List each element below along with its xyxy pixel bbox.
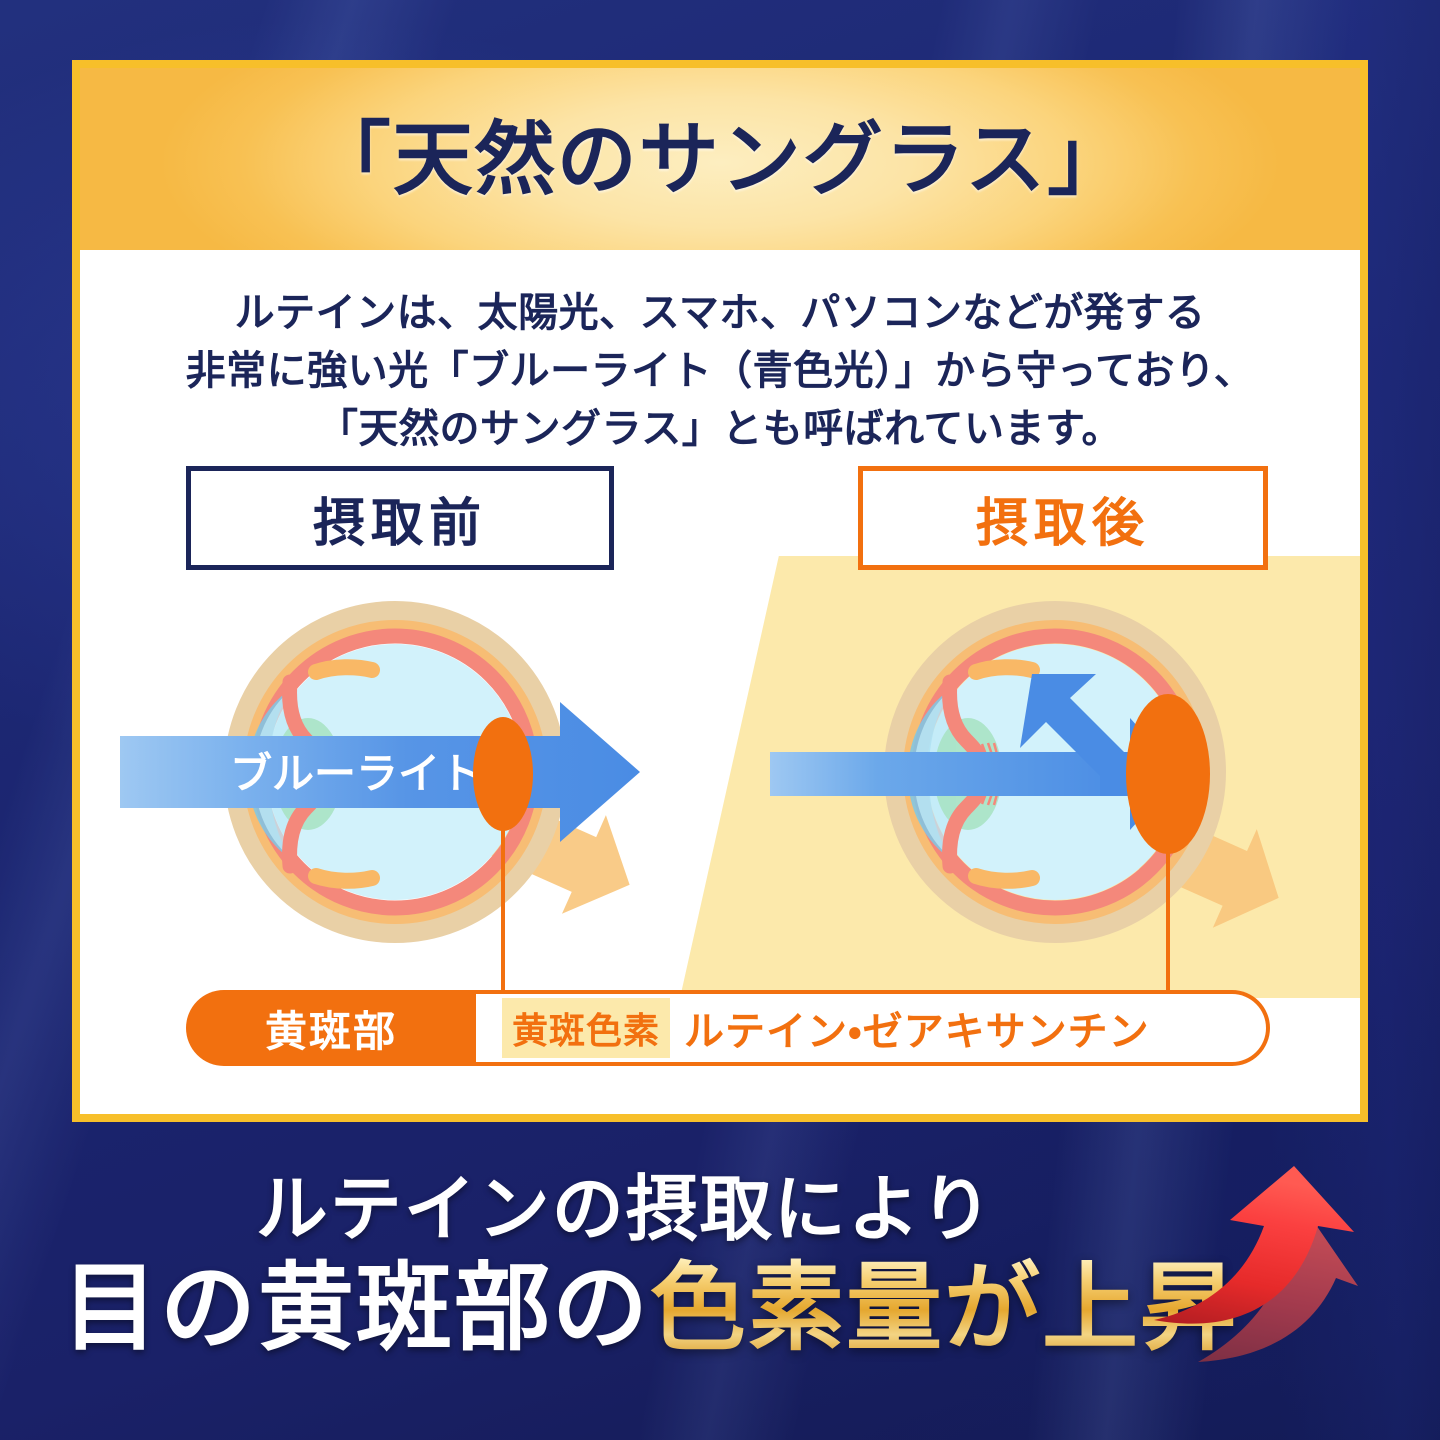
macula-ellipse [1126, 694, 1210, 854]
banner-title: 「天然のサングラス」 [311, 119, 1129, 199]
header-after-label: 摂取後 [976, 481, 1150, 556]
tagline-line-2: 目の黄斑部の色素量が上昇 [0, 1250, 1300, 1365]
title-banner: 「天然のサングラス」 [80, 68, 1360, 250]
legend-pigment-body: 黄斑色素 ルテイン・ゼアキサンチン [476, 990, 1270, 1066]
legend-bar: 黄斑部 黄斑色素 ルテイン・ゼアキサンチン [186, 990, 1270, 1066]
legend-pigment-text: ルテイン・ゼアキサンチン [684, 999, 1150, 1057]
infographic-stage: 「天然のサングラス」 ルテインは、太陽光、スマホ、パソコンなどが発する 非常に強… [0, 0, 1440, 1440]
body-copy: ルテインは、太陽光、スマホ、パソコンなどが発する 非常に強い光「ブルーライト（青… [80, 250, 1360, 464]
legend-macula-pill: 黄斑部 [186, 990, 476, 1066]
iris-upper [976, 667, 1032, 672]
rising-arrows [1146, 1136, 1440, 1436]
body-copy-line-2: 非常に強い光「ブルーライト（青色光）」から守っており、 [140, 342, 1300, 400]
tagline-section: ルテインの摂取により 目の黄斑部の色素量が上昇 [0, 1140, 1440, 1430]
macula-ellipse [473, 717, 533, 831]
header-after: 摂取後 [858, 466, 1268, 570]
body-copy-line-3: 「天然のサングラス」とも呼ばれています。 [140, 400, 1300, 458]
iris-lower [976, 876, 1032, 881]
legend-pigment-tag: 黄斑色素 [502, 998, 670, 1058]
legend-macula-label: 黄斑部 [265, 998, 397, 1059]
header-before-label: 摂取前 [313, 481, 487, 556]
blue-light-beam-label: ブルーライト [230, 750, 482, 797]
eye-diagram-after [770, 574, 1368, 994]
iris-lower [316, 876, 372, 881]
tagline-line-1: ルテインの摂取により [0, 1150, 1250, 1255]
tagline-line-2-white: 目の黄斑部の [62, 1251, 650, 1364]
header-before: 摂取前 [186, 466, 614, 570]
info-card: 「天然のサングラス」 ルテインは、太陽光、スマホ、パソコンなどが発する 非常に強… [72, 60, 1368, 1122]
eye-diagram-before: ブルーライト [120, 574, 720, 994]
body-copy-line-1: ルテインは、太陽光、スマホ、パソコンなどが発する [140, 284, 1300, 342]
iris-upper [316, 667, 372, 672]
